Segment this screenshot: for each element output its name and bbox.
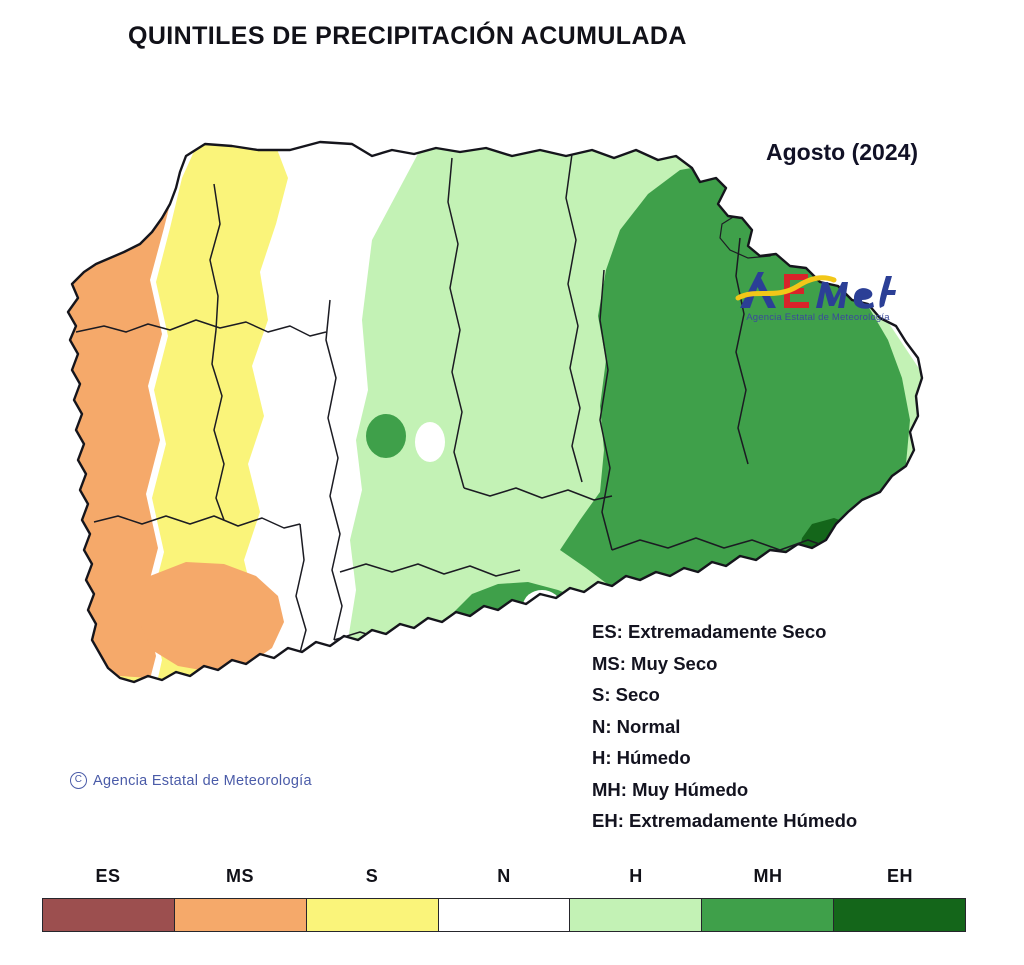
colorbar-label-mh: MH bbox=[702, 866, 834, 896]
page-title: QUINTILES DE PRECIPITACIÓN ACUMULADA bbox=[128, 22, 687, 51]
colorbar-swatch-mh bbox=[702, 899, 834, 931]
colorbar-swatch-ms bbox=[175, 899, 307, 931]
copyright-text: Agencia Estatal de Meteorología bbox=[93, 773, 312, 789]
copyright-icon: C bbox=[70, 772, 87, 789]
legend-row-h: H: Húmedo bbox=[592, 742, 992, 774]
colorbar-labels: ES MS S N H MH EH bbox=[42, 866, 966, 896]
logo-letter-m bbox=[816, 282, 848, 308]
colorbar-label-h: H bbox=[570, 866, 702, 896]
colorbar-label-es: ES bbox=[42, 866, 174, 896]
zone-seco-sw bbox=[88, 676, 170, 726]
colorbar-swatch-eh bbox=[834, 899, 965, 931]
legend-key: ES: Extremadamente Seco MS: Muy Seco S: … bbox=[592, 616, 992, 837]
colorbar-legend: ES MS S N H MH EH bbox=[42, 866, 966, 936]
zone-muy-seco bbox=[0, 120, 178, 820]
legend-row-es: ES: Extremadamente Seco bbox=[592, 616, 992, 648]
colorbar-label-s: S bbox=[306, 866, 438, 896]
colorbar-swatch-es bbox=[43, 899, 175, 931]
legend-row-eh: EH: Extremadamente Húmedo bbox=[592, 805, 992, 837]
legend-row-ms: MS: Muy Seco bbox=[592, 648, 992, 680]
colorbar-swatch-h bbox=[570, 899, 702, 931]
legend-row-n: N: Normal bbox=[592, 711, 992, 743]
aemet-logo: Agencia Estatal de Meteorología bbox=[730, 266, 906, 332]
legend-row-mh: MH: Muy Húmedo bbox=[592, 774, 992, 806]
aemet-logo-subtitle: Agencia Estatal de Meteorología bbox=[732, 312, 904, 323]
colorbar-label-eh: EH bbox=[834, 866, 966, 896]
copyright-notice: C Agencia Estatal de Meteorología bbox=[70, 772, 312, 789]
colorbar-label-n: N bbox=[438, 866, 570, 896]
legend-row-s: S: Seco bbox=[592, 679, 992, 711]
aemet-logo-mark bbox=[730, 266, 906, 314]
zone-muy-humedo-blob bbox=[366, 414, 406, 458]
logo-letter-t bbox=[879, 276, 896, 308]
colorbar-swatch-n bbox=[439, 899, 571, 931]
colorbar-swatch-s bbox=[307, 899, 439, 931]
logo-letter-e2 bbox=[854, 288, 874, 309]
zone-normal-hole-centre bbox=[415, 422, 445, 462]
colorbar-swatches bbox=[42, 898, 966, 932]
colorbar-label-ms: MS bbox=[174, 866, 306, 896]
